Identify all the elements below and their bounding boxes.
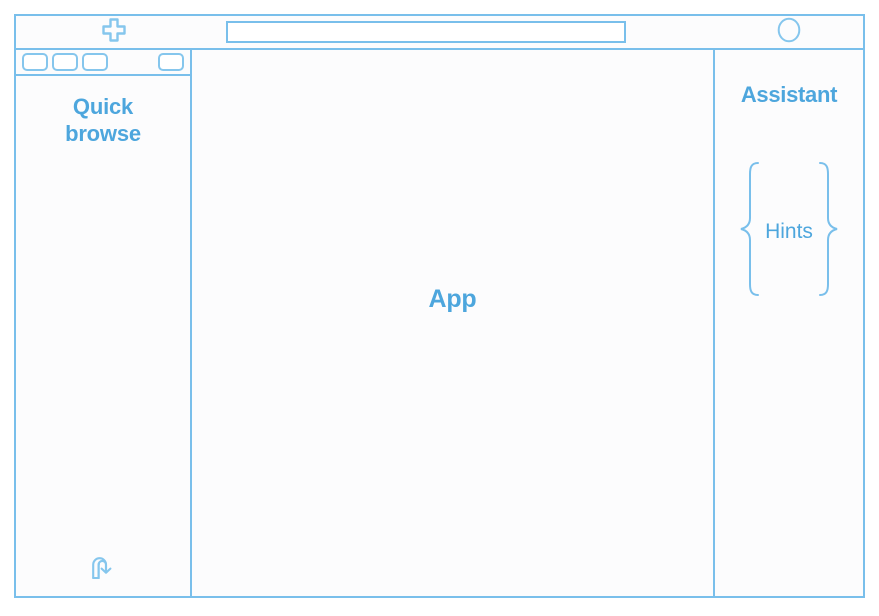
app-area[interactable]: App [192, 50, 715, 596]
sidebar-tool-2-button[interactable] [52, 53, 78, 71]
add-button[interactable] [16, 16, 212, 48]
u-turn-arrow-icon [88, 553, 118, 586]
sidebar-footer[interactable] [16, 553, 190, 586]
hints-block: Hints [737, 160, 841, 303]
sidebar-tool-3-button[interactable] [82, 53, 108, 71]
avatar-zone[interactable] [715, 16, 863, 48]
app-label: App [429, 285, 477, 314]
search-zone [212, 16, 715, 48]
right-curly-brace-icon [815, 160, 841, 303]
assistant-title: Assistant [741, 82, 837, 108]
sidebar-toolbar [16, 50, 190, 76]
body-row: Quick browse App [16, 50, 863, 596]
sidebar-panel: Quick browse [16, 50, 192, 596]
sidebar-tool-4-button[interactable] [158, 53, 184, 71]
search-input[interactable] [226, 21, 626, 43]
sidebar-tool-1-button[interactable] [22, 53, 48, 71]
quick-browse-title: Quick browse [16, 94, 190, 148]
assistant-panel: Assistant Hints [715, 50, 863, 596]
left-curly-brace-icon [737, 160, 763, 303]
hints-label: Hints [765, 220, 813, 244]
plus-icon [100, 16, 128, 49]
header-bar [16, 16, 863, 50]
avatar-circle-icon [776, 16, 802, 49]
wireframe-window: Quick browse App [14, 14, 865, 598]
sidebar-body: Quick browse [16, 76, 190, 596]
